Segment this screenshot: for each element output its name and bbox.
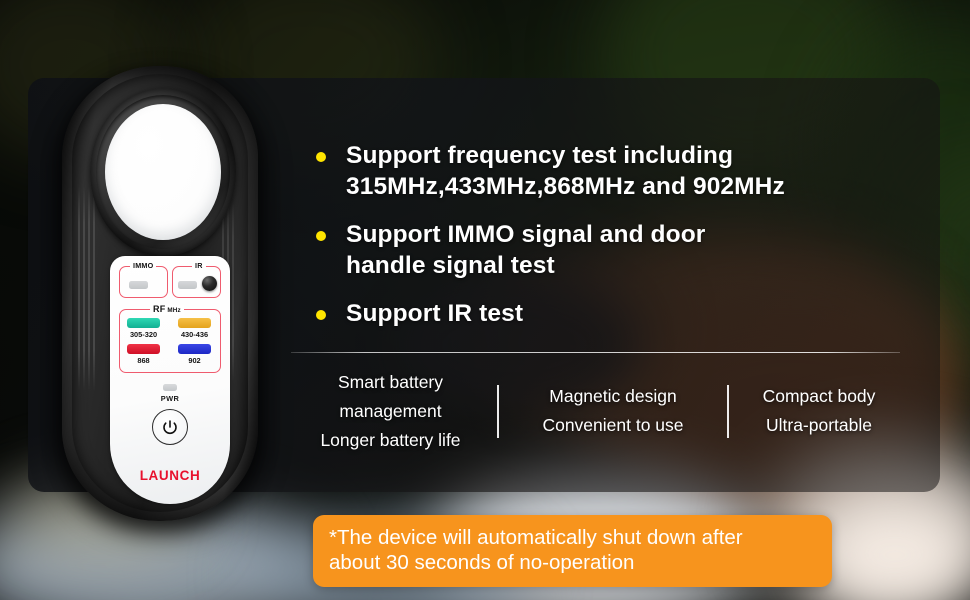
highlight-magnetic: Magnetic design Convenient to use [499,382,727,440]
rf-switch-902-label: 902 [170,357,219,365]
power-led-indicator [163,384,177,391]
feature-bullet-item: Support frequency test including 315MHz,… [316,140,916,202]
rf-switch-902[interactable] [178,344,211,354]
ir-label: IR [192,262,206,270]
feature-bullet-item: Support IR test [316,298,916,329]
feature-bullet-list: Support frequency test including 315MHz,… [316,140,916,329]
background-light-blur [815,500,970,600]
rf-switch-305-320[interactable] [127,318,160,328]
device-product-image: IMMO IR RF MHz 305-320 430-436 868 902 [62,66,258,528]
feature-bullet-text: Support IMMO signal and door handle sign… [346,219,705,281]
lens-bezel [90,88,236,256]
lens-window [105,104,221,240]
product-banner: Support frequency test including 315MHz,… [0,0,970,600]
feature-bullet-text: Support frequency test including 315MHz,… [346,140,785,202]
feature-bullet-item: Support IMMO signal and door handle sign… [316,219,916,281]
highlight-battery: Smart battery management Longer battery … [284,368,497,455]
highlight-row: Smart battery management Longer battery … [284,366,909,456]
rf-switch-430-436-label: 430-436 [170,331,219,339]
rf-label: RF MHz [150,305,184,315]
notice-text: *The device will automatically shut down… [329,525,816,575]
bullet-dot-icon [316,152,326,162]
highlight-portable: Compact body Ultra-portable [729,382,909,440]
bullet-dot-icon [316,231,326,241]
rf-switch-430-436[interactable] [178,318,211,328]
immo-label: IMMO [130,262,156,270]
ir-sensor-dome-icon [202,276,217,291]
rf-switch-868[interactable] [127,344,160,354]
device-faceplate: IMMO IR RF MHz 305-320 430-436 868 902 [110,256,230,504]
immo-led-indicator [129,281,148,289]
bullet-dot-icon [316,310,326,320]
horizontal-divider [291,352,900,353]
device-body: IMMO IR RF MHz 305-320 430-436 868 902 [62,66,258,521]
auto-shutdown-notice: *The device will automatically shut down… [313,515,832,587]
lens-bezel-inner [96,95,230,249]
ir-led-indicator [178,281,197,289]
rf-switch-305-320-label: 305-320 [119,331,168,339]
rf-switch-868-label: 868 [119,357,168,365]
power-icon [162,419,178,435]
power-label: PWR [150,394,190,403]
feature-bullet-text: Support IR test [346,298,523,329]
device-grip-ribs-left [78,186,98,391]
device-brand-logo: LAUNCH [110,468,230,483]
